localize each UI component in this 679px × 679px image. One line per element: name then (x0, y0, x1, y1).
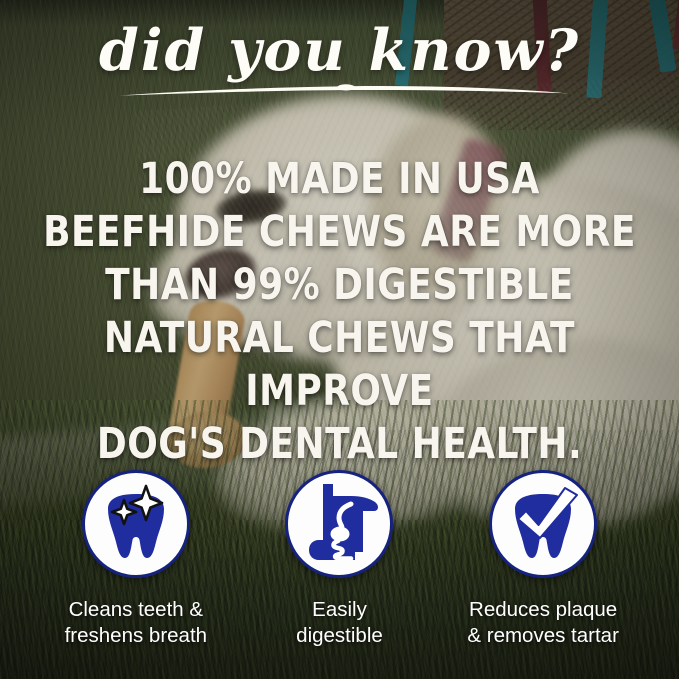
benefit-badges-row: Cleans teeth & freshens breath Easily di… (0, 470, 679, 649)
badge-circle (489, 470, 597, 578)
claim-line: THAN 99% DIGESTIBLE (41, 259, 639, 312)
dog-digestive-system-icon (293, 478, 385, 570)
claim-text-block: 100% MADE IN USA BEEFHIDE CHEWS ARE MORE… (18, 153, 661, 471)
brush-swoosh-underline-icon (118, 84, 570, 98)
claim-line: DOG'S DENTAL HEALTH. (41, 418, 639, 471)
badge-circle (285, 470, 393, 578)
badge-caption: Cleans teeth & freshens breath (51, 597, 221, 649)
overlay-content: did you know? 100% MADE IN USA BEEFHIDE … (0, 0, 679, 679)
claim-line: NATURAL CHEWS THAT IMPROVE (41, 312, 639, 418)
badge-caption: Reduces plaque & removes tartar (458, 597, 628, 649)
tooth-checkmark-icon (497, 478, 589, 570)
claim-line: BEEFHIDE CHEWS ARE MORE (41, 206, 639, 259)
sparkling-tooth-icon (90, 478, 182, 570)
infographic-card: did you know? 100% MADE IN USA BEEFHIDE … (0, 0, 679, 679)
benefit-badge: Cleans teeth & freshens breath (51, 470, 221, 649)
badge-circle (82, 470, 190, 578)
badge-caption: Easily digestible (254, 597, 424, 649)
claim-line: 100% MADE IN USA (41, 153, 639, 206)
page-title: did you know? (0, 22, 679, 79)
benefit-badge: Reduces plaque & removes tartar (458, 470, 628, 649)
benefit-badge: Easily digestible (254, 470, 424, 649)
